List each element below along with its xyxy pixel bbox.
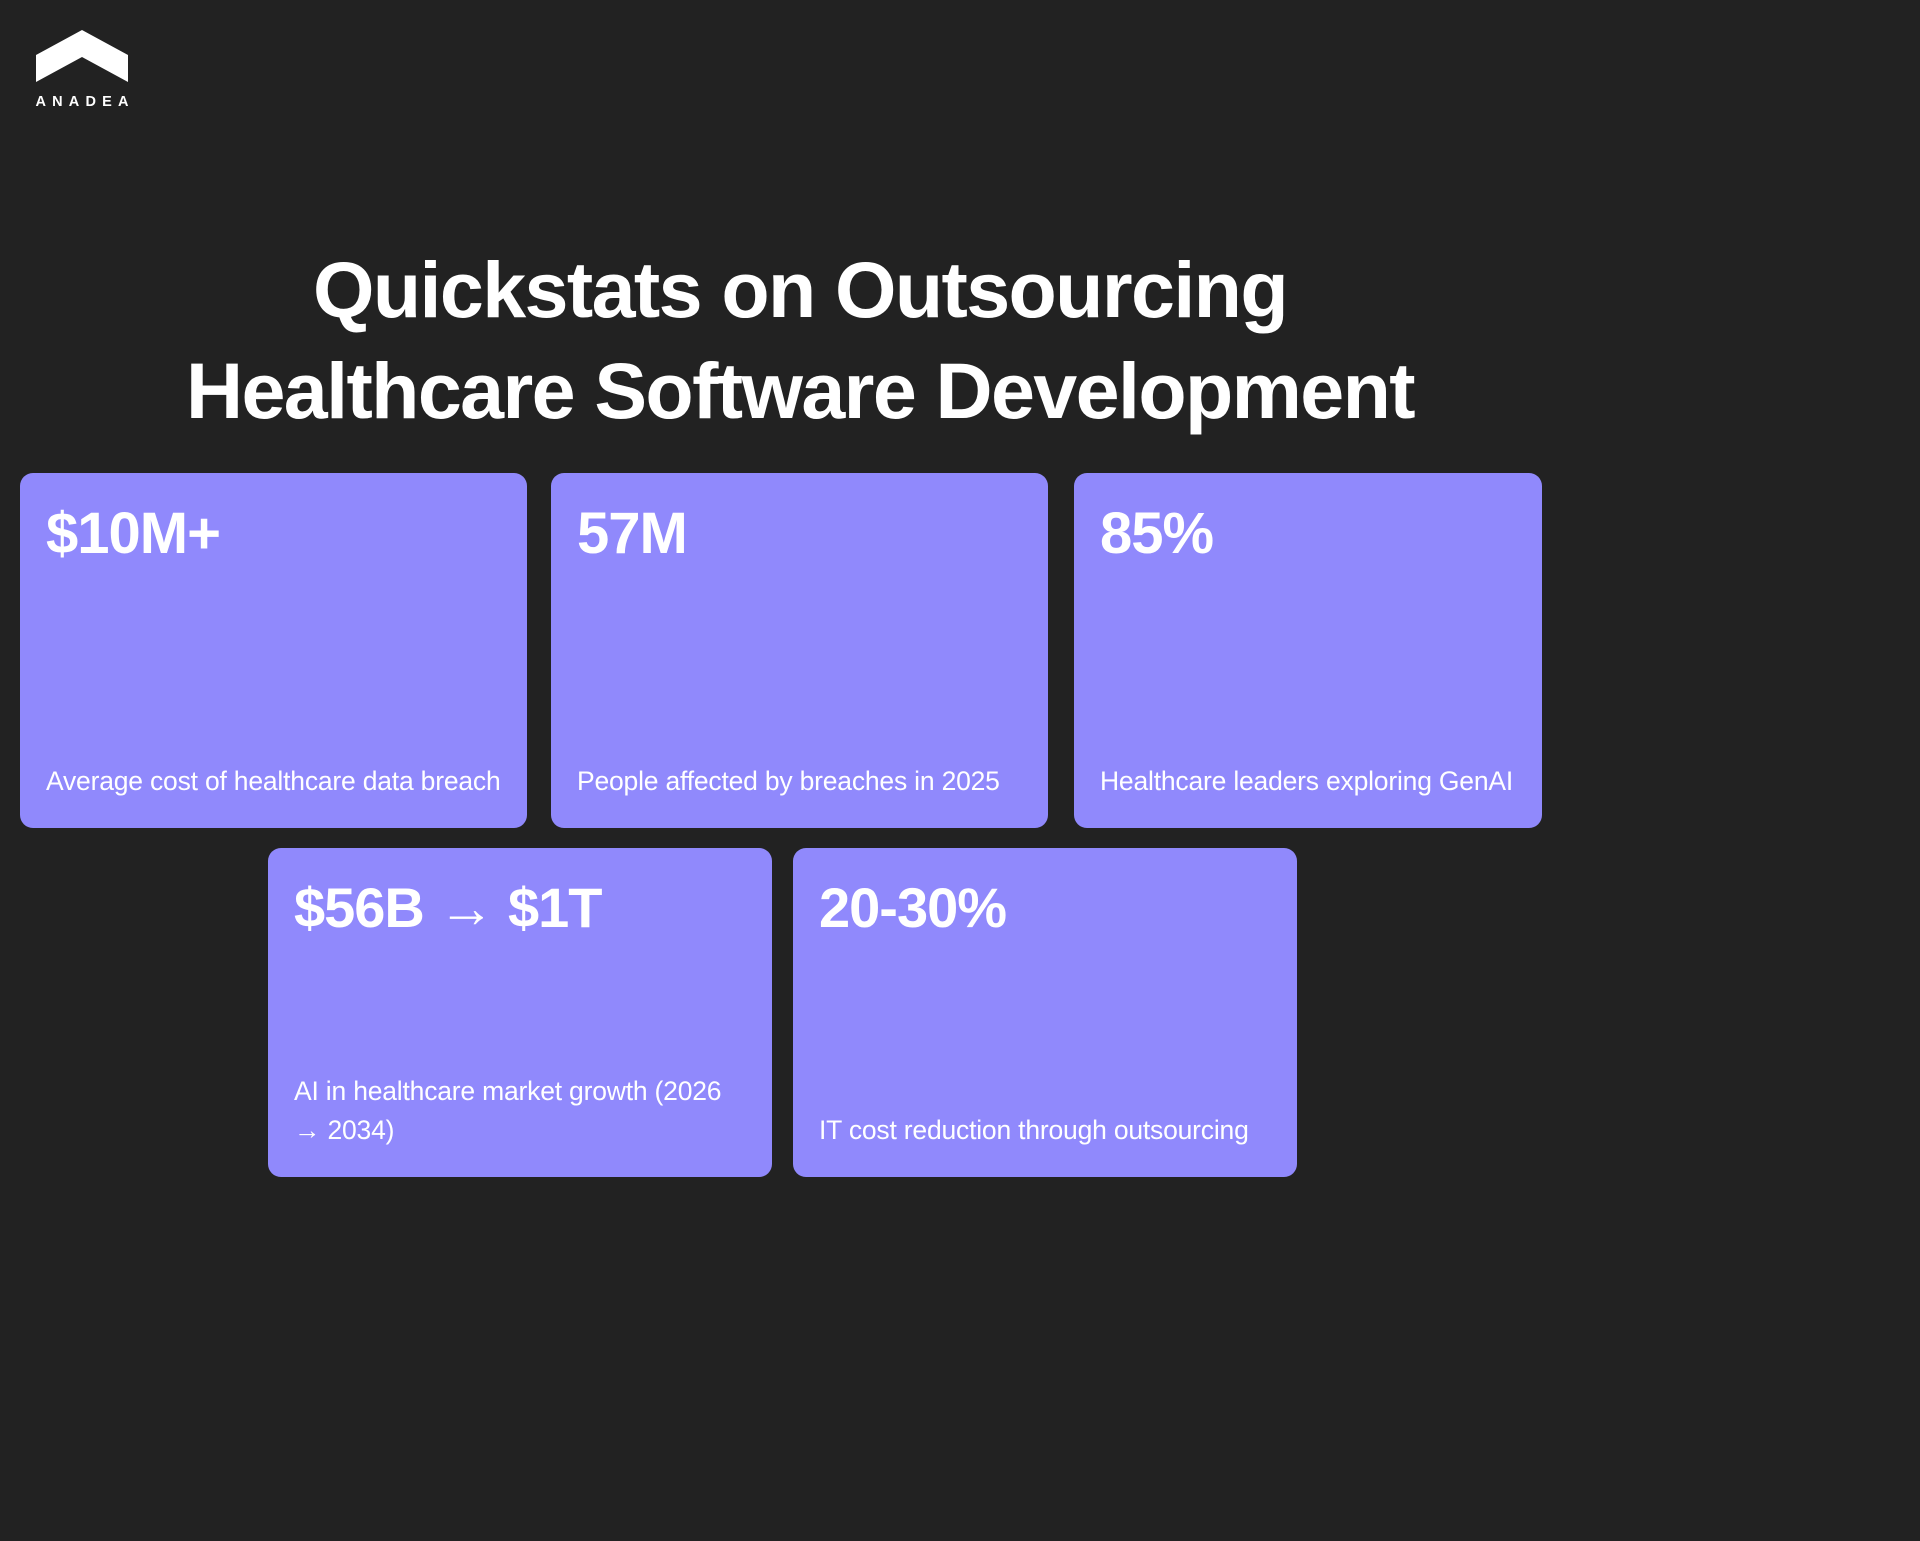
stat-card: 85% Healthcare leaders exploring GenAI	[1074, 473, 1542, 828]
stat-card: 57M People affected by breaches in 2025	[551, 473, 1048, 828]
stat-label: People affected by breaches in 2025	[577, 762, 1022, 802]
stat-value: $10M+	[46, 504, 501, 564]
stat-value: 20-30%	[819, 879, 1271, 937]
brand-logo: ANADEA	[22, 30, 142, 110]
stat-card: $56B → $1T AI in healthcare market growt…	[268, 848, 772, 1177]
stat-label: Healthcare leaders exploring GenAI	[1100, 762, 1516, 802]
page-title: Quickstats on Outsourcing Healthcare Sof…	[50, 239, 1550, 441]
stat-card: $10M+ Average cost of healthcare data br…	[20, 473, 527, 828]
stat-label: AI in healthcare market growth (2026 → 2…	[294, 1072, 746, 1152]
stat-value: $56B → $1T	[294, 879, 746, 937]
stat-label: IT cost reduction through outsourcing	[819, 1111, 1271, 1151]
infographic-canvas: ANADEA Quickstats on Outsourcing Healthc…	[0, 0, 1920, 1541]
brand-wordmark: ANADEA	[29, 95, 134, 110]
page-title-line-1: Quickstats on Outsourcing	[50, 239, 1550, 340]
page-title-line-2: Healthcare Software Development	[50, 340, 1550, 441]
stat-card: 20-30% IT cost reduction through outsour…	[793, 848, 1297, 1177]
stat-value: 57M	[577, 504, 1022, 564]
chevron-logo-icon	[36, 30, 128, 82]
stat-value: 85%	[1100, 504, 1516, 564]
stat-label: Average cost of healthcare data breach	[46, 762, 501, 802]
